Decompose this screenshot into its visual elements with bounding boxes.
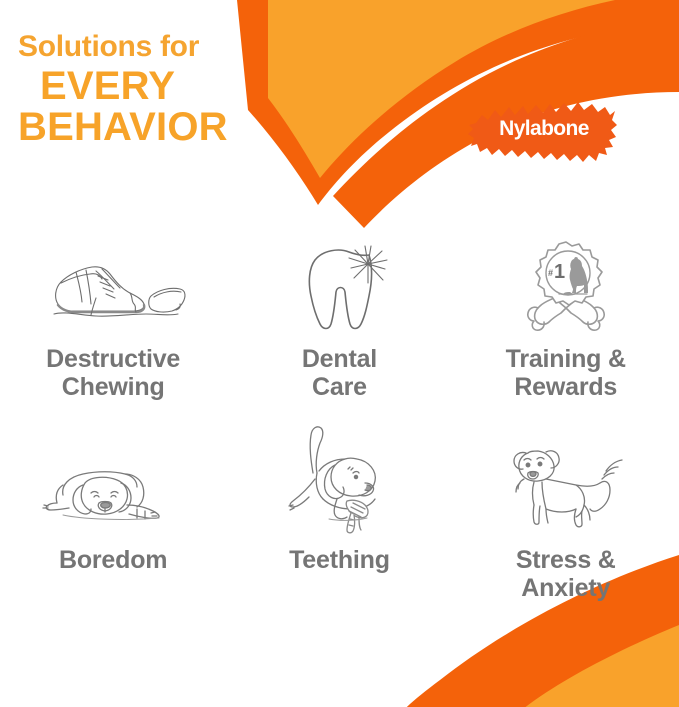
- sparkling-tooth-icon: [279, 238, 399, 334]
- award-rosette-dog-icon: # 1: [514, 238, 618, 334]
- logo-wordmark: Nylabone: [468, 93, 618, 165]
- bottom-swoosh-light-band: [514, 625, 679, 707]
- behavior-caption: Destructive Chewing: [46, 345, 180, 401]
- behavior-caption: Dental Care: [302, 345, 377, 401]
- behavior-grid-row: Destructive Chewing: [0, 238, 679, 401]
- ribbon-bone-left: [528, 298, 566, 330]
- badge-rank-hash: #: [548, 268, 553, 278]
- behavior-caption: Teething: [289, 546, 390, 574]
- behavior-item-stress-anxiety: Stress & Anxiety: [453, 443, 679, 602]
- nylabone-logo: Nylabone: [468, 93, 618, 165]
- playbow-puppy-chewing-icon: [269, 443, 409, 535]
- behavior-grid: Destructive Chewing: [0, 238, 679, 602]
- chewed-shoe-icon: [38, 238, 188, 334]
- standing-anxious-dog-icon: [506, 443, 626, 535]
- badge-rank-number: 1: [554, 261, 565, 283]
- behavior-caption: Boredom: [59, 546, 167, 574]
- behavior-item-boredom: Boredom: [0, 443, 226, 602]
- behavior-caption: Training & Rewards: [506, 345, 626, 401]
- promo-banner: Solutions for EVERY BEHAVIOR Nylabone: [0, 0, 679, 707]
- headline-line-1: Solutions for: [18, 32, 228, 62]
- behavior-caption: Stress & Anxiety: [516, 546, 616, 602]
- behavior-item-dental-care: Dental Care: [226, 238, 452, 401]
- behavior-item-destructive-chewing: Destructive Chewing: [0, 238, 226, 401]
- headline-line-3: BEHAVIOR: [18, 107, 228, 147]
- behavior-item-teething: Teething: [226, 443, 452, 602]
- headline-line-2: EVERY: [40, 66, 228, 106]
- headline: Solutions for EVERY BEHAVIOR: [18, 32, 228, 147]
- behavior-grid-row: Boredom: [0, 443, 679, 602]
- behavior-item-training-rewards: # 1 Training & Rewards: [453, 238, 679, 401]
- lying-dog-icon: [33, 443, 193, 535]
